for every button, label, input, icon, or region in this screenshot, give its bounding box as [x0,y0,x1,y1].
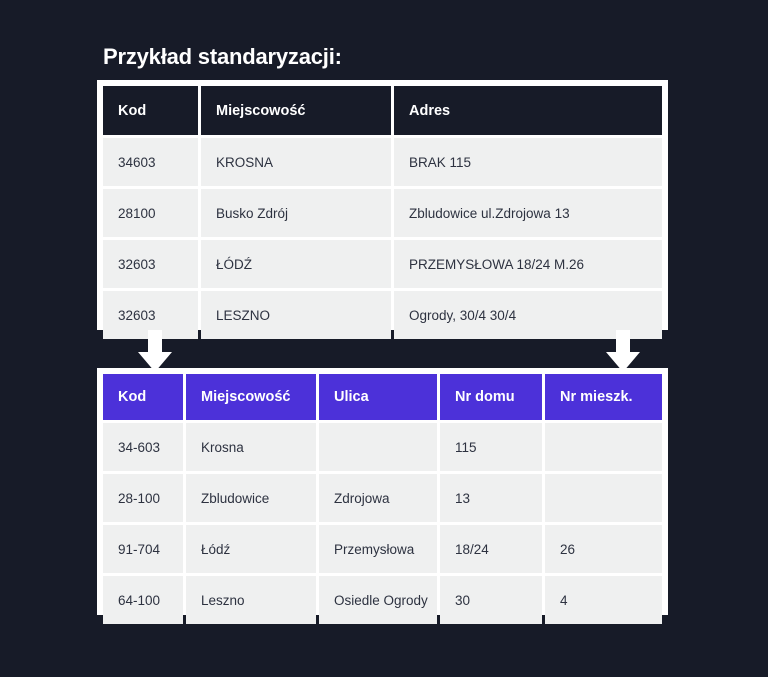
column-header-adres: Adres [394,86,662,135]
cell-adres: PRZEMYSŁOWA 18/24 M.26 [394,240,662,288]
cell-kod: 32603 [103,240,198,288]
cell-nr-mieszk: 26 [545,525,662,573]
table-row: 32603 LESZNO Ogrody, 30/4 30/4 [103,291,662,339]
table-header-row: Kod Miejscowość Ulica Nr domu Nr mieszk. [103,374,662,420]
cell-kod: 34603 [103,138,198,186]
cell-ulica: Osiedle Ogrody [319,576,437,624]
column-header-kod: Kod [103,374,183,420]
cell-kod: 28100 [103,189,198,237]
cell-nr-domu: 13 [440,474,542,522]
table-header-row: Kod Miejscowość Adres [103,86,662,135]
cell-adres: Zbludowice ul.Zdrojowa 13 [394,189,662,237]
page-title: Przykład standaryzacji: [103,44,342,70]
cell-miejscowosc: ŁÓDŹ [201,240,391,288]
cell-ulica: Zdrojowa [319,474,437,522]
column-header-ulica: Ulica [319,374,437,420]
table-row: 28100 Busko Zdrój Zbludowice ul.Zdrojowa… [103,189,662,237]
cell-nr-mieszk [545,423,662,471]
column-header-nr-mieszk: Nr mieszk. [545,374,662,420]
cell-nr-mieszk: 4 [545,576,662,624]
table-row: 28-100 Zbludowice Zdrojowa 13 [103,474,662,522]
cell-nr-domu: 115 [440,423,542,471]
table-row: 32603 ŁÓDŹ PRZEMYSŁOWA 18/24 M.26 [103,240,662,288]
table-row: 34603 KROSNA BRAK 115 [103,138,662,186]
result-table: Kod Miejscowość Ulica Nr domu Nr mieszk.… [97,368,668,615]
table-row: 91-704 Łódź Przemysłowa 18/24 26 [103,525,662,573]
cell-miejscowosc: LESZNO [201,291,391,339]
cell-kod: 91-704 [103,525,183,573]
cell-miejscowosc: Leszno [186,576,316,624]
cell-nr-domu: 18/24 [440,525,542,573]
cell-nr-mieszk [545,474,662,522]
cell-miejscowosc: Krosna [186,423,316,471]
column-header-miejscowosc: Miejscowość [186,374,316,420]
down-arrow-icon [606,330,640,372]
cell-ulica [319,423,437,471]
table-row: 34-603 Krosna 115 [103,423,662,471]
cell-nr-domu: 30 [440,576,542,624]
source-table: Kod Miejscowość Adres 34603 KROSNA BRAK … [97,80,668,330]
column-header-miejscowosc: Miejscowość [201,86,391,135]
cell-ulica: Przemysłowa [319,525,437,573]
cell-miejscowosc: Busko Zdrój [201,189,391,237]
cell-adres: BRAK 115 [394,138,662,186]
cell-miejscowosc: Zbludowice [186,474,316,522]
column-header-kod: Kod [103,86,198,135]
cell-kod: 34-603 [103,423,183,471]
cell-miejscowosc: Łódź [186,525,316,573]
cell-kod: 64-100 [103,576,183,624]
cell-kod: 28-100 [103,474,183,522]
down-arrow-icon [138,330,172,372]
cell-miejscowosc: KROSNA [201,138,391,186]
column-header-nr-domu: Nr domu [440,374,542,420]
table-row: 64-100 Leszno Osiedle Ogrody 30 4 [103,576,662,624]
